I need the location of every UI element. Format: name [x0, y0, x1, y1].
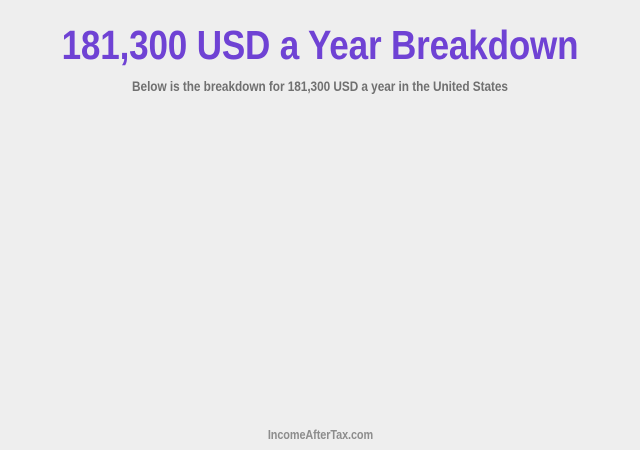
page-subtitle: Below is the breakdown for 181,300 USD a… [40, 78, 600, 95]
page-footer: IncomeAfterTax.com [0, 410, 640, 450]
chart-canvas [0, 118, 640, 410]
page-header: 181,300 USD a Year Breakdown Below is th… [0, 0, 640, 95]
page-title: 181,300 USD a Year Breakdown [46, 22, 593, 68]
breakdown-page: 181,300 USD a Year Breakdown Below is th… [0, 0, 640, 450]
site-brand-label: IncomeAfterTax.com [267, 428, 372, 443]
chart-area [0, 118, 640, 410]
